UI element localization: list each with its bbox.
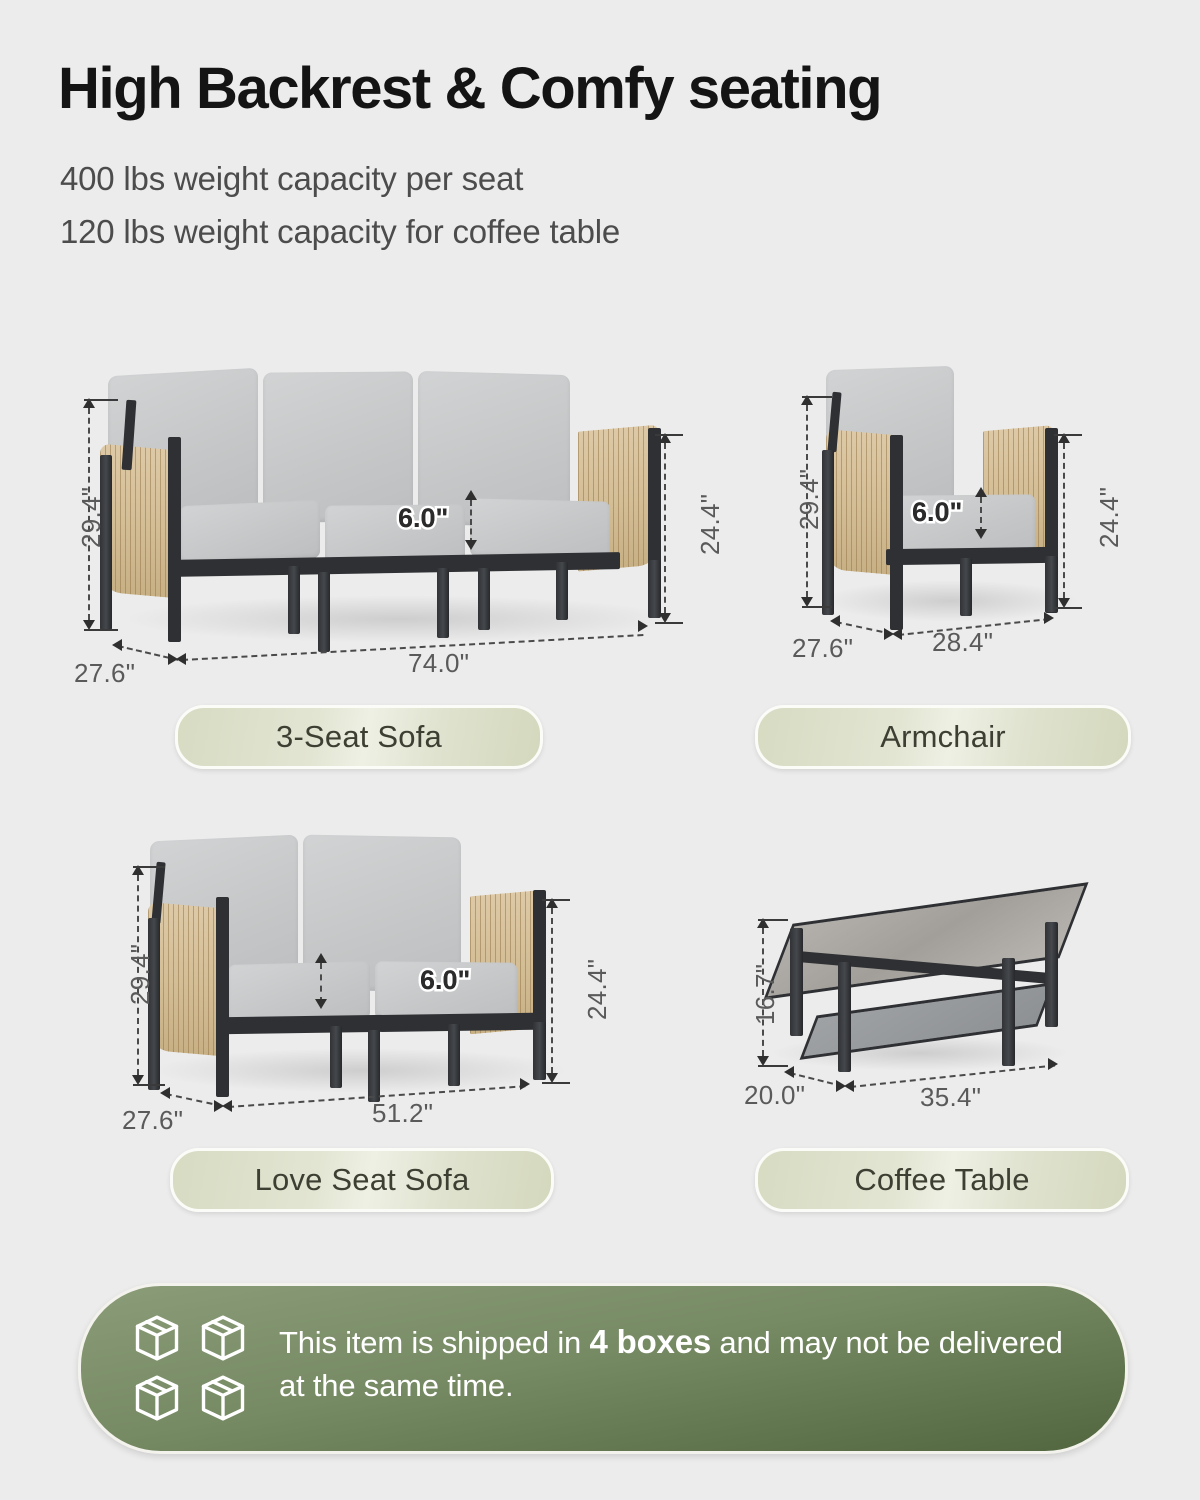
product-label-text: 3-Seat Sofa xyxy=(276,719,442,755)
arrow-right-icon xyxy=(638,620,648,632)
sofa-leg xyxy=(478,568,490,630)
dimension-label-arm-height: 24.4" xyxy=(582,959,613,1020)
extension-cap xyxy=(1054,607,1082,609)
sofa-leg xyxy=(330,1026,342,1088)
arrow-left-icon xyxy=(112,639,122,651)
back-cushion xyxy=(263,371,413,522)
sofa-leg xyxy=(556,562,568,620)
dimension-label-arm-height: 24.4" xyxy=(695,494,726,555)
dimension-label-depth: 20.0" xyxy=(744,1080,805,1111)
extension-cap xyxy=(84,399,118,401)
sofa-leg xyxy=(368,1030,380,1102)
sofa-leg xyxy=(437,568,449,638)
dimension-label-arm-height: 24.4" xyxy=(1094,487,1125,548)
table-leg xyxy=(1002,958,1015,1066)
seat-cushion xyxy=(228,961,370,1023)
arrow-down-icon xyxy=(315,999,327,1009)
shipping-banner-text: This item is shipped in 4 boxes and may … xyxy=(279,1320,1089,1407)
product-label-text: Armchair xyxy=(880,719,1006,755)
seat-cushion xyxy=(470,498,610,559)
arrow-left-icon xyxy=(784,1066,794,1078)
shipping-box-icon xyxy=(131,1312,183,1364)
extension-cap xyxy=(655,622,683,624)
arrow-left-icon xyxy=(160,1087,170,1099)
arrow-left-icon xyxy=(176,653,186,665)
callout-cushion-thickness-fill: 6.0" xyxy=(420,965,470,996)
extension-cap xyxy=(655,434,683,436)
arrow-left-icon xyxy=(844,1080,854,1092)
extension-cap xyxy=(84,629,118,631)
sofa-leg xyxy=(318,572,330,652)
dimension-label-width: 51.2" xyxy=(372,1098,433,1129)
dimension-label-height: 29.4" xyxy=(125,944,156,1005)
dimension-label-depth: 27.6" xyxy=(122,1105,183,1136)
sofa-leg xyxy=(288,566,300,634)
extension-cap xyxy=(542,1082,570,1084)
arrow-right-icon xyxy=(1048,1058,1058,1070)
infographic-page: High Backrest & Comfy seating 400 lbs we… xyxy=(0,0,1200,1500)
product-label-love-seat-sofa[interactable]: Love Seat Sofa xyxy=(170,1148,554,1212)
dimension-label-height: 16.7" xyxy=(750,964,781,1025)
dimension-label-height: 29.4" xyxy=(794,469,825,530)
shipping-box-count: 4 boxes xyxy=(590,1323,712,1360)
callout-cushion-thickness-fill: 6.0" xyxy=(912,497,962,528)
seat-cushion xyxy=(180,500,320,564)
dimension-line-arm-height xyxy=(1063,443,1065,598)
shipping-box-icon-group xyxy=(131,1312,249,1424)
dimension-line-arm-height xyxy=(664,443,666,613)
arrow-down-icon xyxy=(975,529,987,539)
product-label-text: Love Seat Sofa xyxy=(255,1162,470,1198)
extension-cap xyxy=(133,1084,165,1086)
arrow-right-icon xyxy=(1044,612,1054,624)
arrow-down-icon xyxy=(465,540,477,550)
arrow-up-icon xyxy=(465,490,477,500)
arm-post xyxy=(216,897,229,1097)
product-label-three-seat-sofa[interactable]: 3-Seat Sofa xyxy=(175,705,543,769)
dimension-line-cushion xyxy=(320,963,322,1003)
dimension-label-height: 29.4" xyxy=(76,487,107,548)
arm-post xyxy=(168,437,181,642)
arrow-right-icon xyxy=(520,1078,530,1090)
extension-cap xyxy=(1054,434,1082,436)
extension-cap xyxy=(802,606,832,608)
sofa-leg xyxy=(448,1024,460,1086)
arrow-left-icon xyxy=(222,1100,232,1112)
sofa-leg xyxy=(648,560,661,618)
extension-cap xyxy=(133,866,165,868)
shipping-box-icon xyxy=(131,1372,183,1424)
arrow-up-icon xyxy=(315,953,327,963)
table-leg xyxy=(790,928,803,1036)
table-leg xyxy=(838,962,851,1072)
floor-shadow xyxy=(820,580,1080,622)
extension-cap xyxy=(802,396,832,398)
shipping-banner: This item is shipped in 4 boxes and may … xyxy=(78,1283,1128,1454)
product-label-armchair[interactable]: Armchair xyxy=(755,705,1131,769)
dimension-label-width: 74.0" xyxy=(408,648,469,679)
dimension-line-arm-height xyxy=(551,908,553,1073)
arrow-up-icon xyxy=(975,487,987,497)
dimension-label-width: 35.4" xyxy=(920,1082,981,1113)
callout-cushion-thickness-fill: 6.0" xyxy=(398,503,448,534)
chair-leg xyxy=(960,558,972,616)
extension-cap xyxy=(542,899,570,901)
shipping-text-before: This item is shipped in xyxy=(279,1325,590,1360)
arrow-left-icon xyxy=(830,615,840,627)
dimension-label-depth: 27.6" xyxy=(74,658,135,689)
shipping-box-icon xyxy=(197,1312,249,1364)
dimension-line-cushion xyxy=(470,500,472,544)
dimension-label-width: 28.4" xyxy=(932,627,993,658)
extension-cap xyxy=(758,919,788,921)
dimension-line-cushion xyxy=(980,497,982,533)
subtitle-weight-capacity-table: 120 lbs weight capacity for coffee table xyxy=(60,213,620,251)
sofa-leg xyxy=(533,1022,546,1080)
product-label-text: Coffee Table xyxy=(854,1162,1029,1198)
arm-post xyxy=(890,435,903,630)
shipping-box-icon xyxy=(197,1372,249,1424)
arrow-left-icon xyxy=(892,628,902,640)
subtitle-weight-capacity-seat: 400 lbs weight capacity per seat xyxy=(60,160,523,198)
page-title: High Backrest & Comfy seating xyxy=(58,55,881,122)
dimension-label-depth: 27.6" xyxy=(792,633,853,664)
chair-leg xyxy=(1045,556,1058,612)
product-label-coffee-table[interactable]: Coffee Table xyxy=(755,1148,1129,1212)
table-leg xyxy=(1045,922,1058,1027)
